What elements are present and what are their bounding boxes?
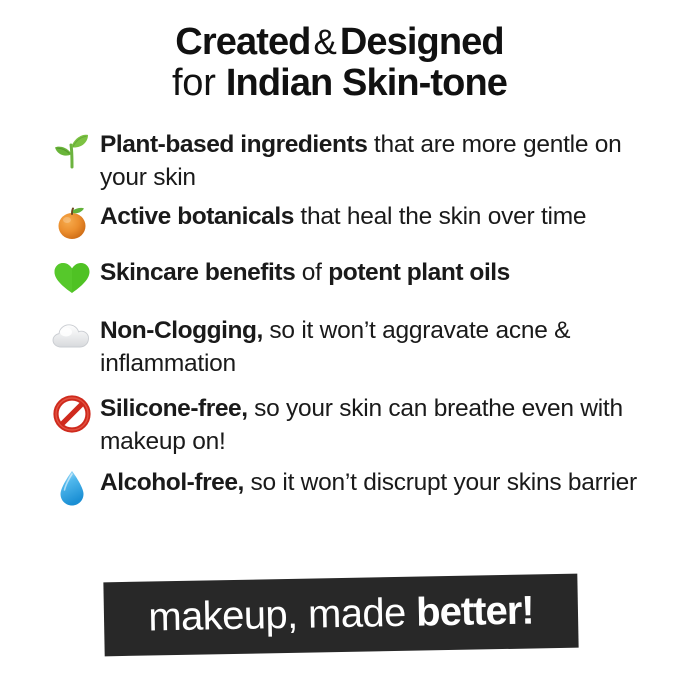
- list-item-rest: so it won’t discrupt your skins barrier: [244, 469, 637, 496]
- list-item-rest: of: [295, 259, 328, 286]
- footer-banner-background: makeup, made better!: [103, 574, 578, 657]
- droplet-icon: [44, 466, 100, 510]
- footer-banner: makeup, made better!: [103, 574, 578, 657]
- page-title-for: for: [172, 62, 216, 104]
- list-item-text: Alcohol-free, so it won’t discrupt your …: [100, 466, 664, 500]
- list-item-bold: Alcohol-free,: [100, 469, 244, 496]
- promo-poster: Created&Designed for Indian Skin-tone Pl…: [0, 0, 679, 679]
- page-title: Created&Designed for Indian Skin-tone: [0, 22, 679, 103]
- prohibited-icon: [44, 392, 100, 436]
- list-item-bold-2: potent plant oils: [328, 259, 510, 286]
- footer-banner-text: makeup, made better!: [148, 590, 534, 637]
- list-item-bold: Active botanicals: [100, 203, 294, 230]
- page-title-line-2: for Indian Skin-tone: [0, 63, 679, 104]
- list-item-text: Silicone-free, so your skin can breathe …: [100, 392, 664, 458]
- list-item-text: Active botanicals that heal the skin ove…: [100, 200, 664, 234]
- list-item-text: Plant-based ingredients that are more ge…: [100, 128, 664, 194]
- page-title-line-1: Created&Designed: [0, 22, 679, 63]
- tangerine-icon: [44, 200, 100, 244]
- seedling-icon: [44, 128, 100, 172]
- list-item: Skincare benefits of potent plant oils: [44, 256, 664, 300]
- page-title-ampersand: &: [311, 23, 340, 62]
- list-item-bold: Silicone-free,: [100, 395, 248, 422]
- footer-banner-bold: better!: [416, 588, 534, 634]
- list-item-bold: Non-Clogging,: [100, 317, 263, 344]
- cloud-icon: [44, 314, 100, 358]
- benefits-list: Plant-based ingredients that are more ge…: [44, 128, 664, 510]
- list-item-bold: Skincare benefits: [100, 259, 295, 286]
- list-item: Active botanicals that heal the skin ove…: [44, 200, 664, 244]
- footer-banner-light: makeup, made: [148, 591, 417, 640]
- list-item-text: Skincare benefits of potent plant oils: [100, 256, 664, 290]
- green-heart-icon: [44, 256, 100, 300]
- page-title-designed: Designed: [340, 21, 504, 63]
- list-item: Plant-based ingredients that are more ge…: [44, 128, 664, 194]
- list-item-rest: that heal the skin over time: [294, 203, 586, 230]
- list-item: Alcohol-free, so it won’t discrupt your …: [44, 466, 664, 510]
- list-item-text: Non-Clogging, so it won’t aggravate acne…: [100, 314, 664, 380]
- page-title-indian-skin-tone: Indian Skin-tone: [226, 62, 507, 104]
- page-title-created: Created: [175, 21, 310, 63]
- list-item: Non-Clogging, so it won’t aggravate acne…: [44, 314, 664, 380]
- list-item-bold: Plant-based ingredients: [100, 131, 367, 158]
- list-item: Silicone-free, so your skin can breathe …: [44, 392, 664, 458]
